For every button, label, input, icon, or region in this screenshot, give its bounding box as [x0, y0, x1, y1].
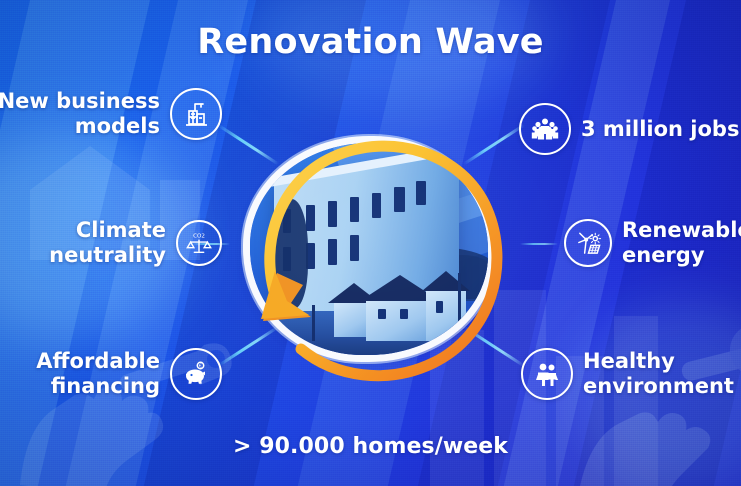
photo-window [378, 309, 386, 319]
photo-window [416, 181, 426, 205]
spoke-middle-right [520, 243, 558, 245]
wind-turbine-solar-panel-icon [564, 219, 612, 267]
benefit-new-business-models[interactable]: New business models [0, 88, 222, 140]
benefit-label: Renewable energy [622, 218, 741, 267]
photo-window [436, 301, 443, 313]
co2-balance-scales-icon: CO2 [176, 220, 222, 266]
piggy-bank-euro-icon: € [170, 348, 222, 400]
benefit-affordable-financing[interactable]: Affordable financing € [0, 348, 222, 400]
photo-window [328, 201, 337, 227]
group-of-people-icon [519, 103, 571, 155]
photo-window [394, 187, 405, 212]
photo-window [306, 205, 315, 231]
photo-fence-post [312, 305, 315, 341]
benefit-label: Climate neutrality [49, 218, 166, 267]
benefit-renewable-energy[interactable]: Renewable energy [564, 218, 741, 267]
footer-stat: > 90.000 homes/week [0, 434, 741, 459]
photo-tree [272, 199, 308, 309]
renovation-wave-infographic: Renovation Wave New business models Clim… [0, 0, 741, 486]
page-title: Renovation Wave [0, 22, 741, 62]
photo-lamp-post [458, 273, 461, 341]
photo-house-roof [422, 271, 470, 291]
benefit-healthy-environment[interactable]: Healthy environment [521, 348, 741, 400]
photo-window [372, 193, 381, 218]
photo-window [350, 197, 359, 222]
benefit-label: New business models [0, 89, 160, 138]
co2-icon-text: CO2 [193, 233, 205, 239]
photo-house [366, 301, 434, 341]
photo-window [350, 235, 359, 261]
center-illustration [240, 140, 500, 360]
benefit-climate-neutrality[interactable]: Climate neutrality CO2 [12, 218, 222, 267]
euro-icon-text: € [199, 364, 202, 370]
adult-and-child-icon [521, 348, 573, 400]
photo-window [400, 309, 408, 319]
benefit-three-million-jobs[interactable]: 3 million jobs [519, 103, 741, 155]
benefit-label: 3 million jobs [581, 117, 739, 142]
benefit-label: Healthy environment [583, 349, 734, 398]
central-photo [250, 143, 488, 355]
building-crane-icon [170, 88, 222, 140]
photo-window [328, 239, 337, 265]
benefit-label: Affordable financing [36, 349, 160, 398]
